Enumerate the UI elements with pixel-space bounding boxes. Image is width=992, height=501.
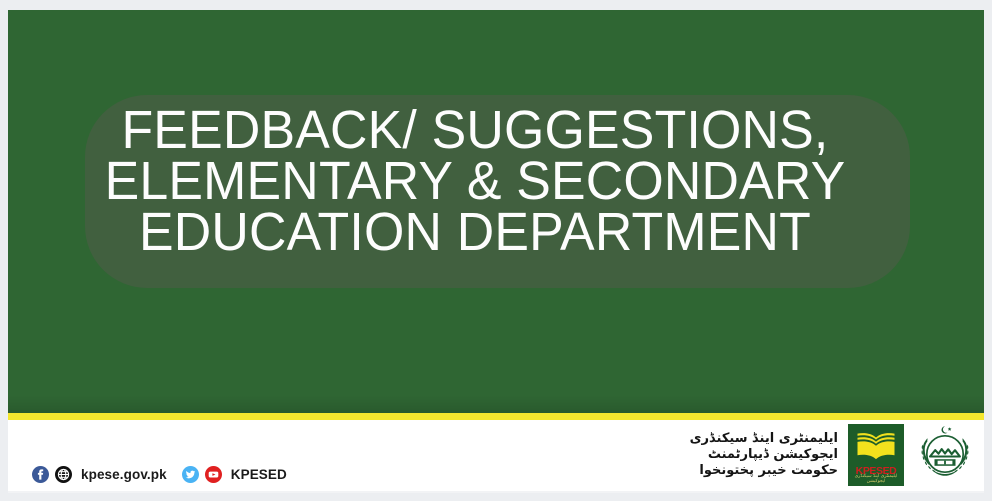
kpesed-logo: KPESED ایلیمنٹری اینڈ سیکنڈری ایجوکیشن — [848, 424, 904, 486]
page-title: FEEDBACK/ SUGGESTIONS, ELEMENTARY & SECO… — [48, 105, 902, 258]
social-links: kpese.gov.pk KPESED — [32, 466, 287, 483]
globe-icon[interactable] — [55, 466, 72, 483]
footer-bar: kpese.gov.pk KPESED ایلیمنٹری اینڈ سیکنڈ… — [8, 420, 984, 493]
urdu-department-name: ایلیمنٹری اینڈ سیکنڈری ایجوکیشن ڈیپارٹمن… — [690, 431, 838, 479]
open-book-icon — [854, 429, 898, 461]
accent-divider — [8, 413, 984, 420]
youtube-icon[interactable] — [205, 466, 222, 483]
kpesed-subtext: ایلیمنٹری اینڈ سیکنڈری ایجوکیشن — [848, 474, 904, 484]
footer-hairline — [8, 491, 984, 493]
government-emblem-icon — [914, 424, 976, 486]
social-handle-label[interactable]: KPESED — [231, 467, 287, 482]
hero-bottom-shadow — [8, 395, 984, 413]
twitter-icon[interactable] — [182, 466, 199, 483]
facebook-icon[interactable] — [32, 466, 49, 483]
website-label[interactable]: kpese.gov.pk — [81, 467, 167, 482]
slide-canvas: FEEDBACK/ SUGGESTIONS, ELEMENTARY & SECO… — [8, 10, 984, 493]
brand-lockup: ایلیمنٹری اینڈ سیکنڈری ایجوکیشن ڈیپارٹمن… — [690, 424, 976, 486]
hero-banner: FEEDBACK/ SUGGESTIONS, ELEMENTARY & SECO… — [8, 10, 984, 413]
